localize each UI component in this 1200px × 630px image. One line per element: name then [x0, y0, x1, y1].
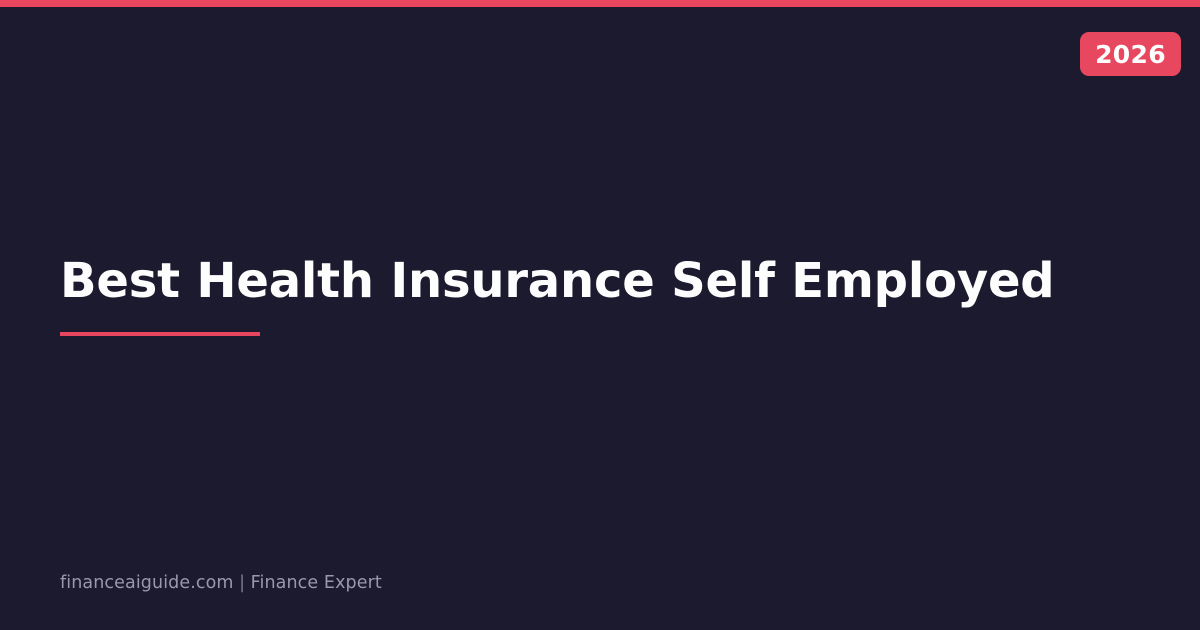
- page-title: Best Health Insurance Self Employed: [60, 255, 1120, 309]
- top-accent-bar: [0, 0, 1200, 7]
- footer-byline: financeaiguide.com | Finance Expert: [60, 571, 382, 596]
- title-underline-accent: [60, 332, 260, 336]
- headline-block: Best Health Insurance Self Employed: [60, 255, 1120, 336]
- footer-separator: |: [234, 571, 251, 596]
- social-card: 2026 Best Health Insurance Self Employed…: [0, 0, 1200, 630]
- year-badge: 2026: [1080, 32, 1181, 76]
- footer-author-name: Finance Expert: [251, 571, 382, 596]
- footer-site-name: financeaiguide.com: [60, 571, 234, 596]
- year-badge-label: 2026: [1095, 42, 1166, 67]
